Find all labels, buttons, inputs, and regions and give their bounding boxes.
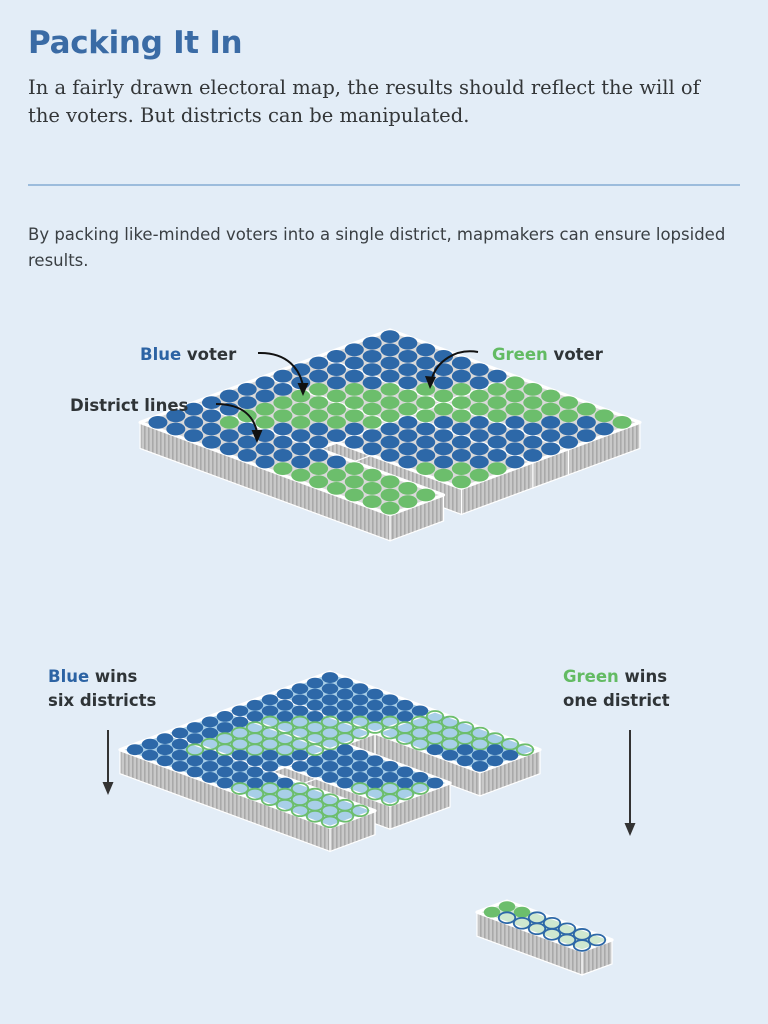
blue-voter-dot xyxy=(523,436,542,449)
green-voter-dot xyxy=(345,409,364,422)
blue-voter-dot xyxy=(397,767,413,778)
blue-voter-dot xyxy=(238,396,257,409)
blue-voter-dot xyxy=(397,778,413,789)
green-wins-label: Green wins xyxy=(563,667,667,686)
blue-voter-dot xyxy=(488,370,507,383)
blue-voter-dot xyxy=(577,429,596,442)
blue-voter-dot xyxy=(352,750,368,761)
green-voter-dot xyxy=(273,409,292,422)
green-voter-dot xyxy=(416,462,435,475)
green-voter-dot xyxy=(613,416,632,429)
green-voter-dot xyxy=(484,907,500,918)
blue-voter-dot xyxy=(541,429,560,442)
blue-voter-dot xyxy=(434,456,453,469)
green-voter-dot xyxy=(398,390,417,403)
green-voter-dot xyxy=(523,383,542,396)
blue-voter-dot xyxy=(238,449,257,462)
blue-voter-dot xyxy=(487,755,503,766)
blue-voter-dot xyxy=(238,436,257,449)
blue-voter-dot xyxy=(217,755,233,766)
green-voter-dot xyxy=(327,390,346,403)
green-voter-label: Green voter xyxy=(492,345,604,364)
green-voter-dot xyxy=(434,390,453,403)
blue-voter-dot xyxy=(363,350,382,363)
blue-voter-dot xyxy=(277,755,293,766)
packed-green-district[interactable] xyxy=(477,901,612,975)
blue-voter-dot xyxy=(172,750,188,761)
blue-voter-dot xyxy=(291,429,310,442)
green-voter-dot xyxy=(345,475,364,488)
blue-voter-dot xyxy=(322,694,338,705)
blue-voter-dot xyxy=(187,767,203,778)
blue-voter-dot xyxy=(187,755,203,766)
blue-voter-dot xyxy=(307,755,323,766)
blue-voter-dot xyxy=(452,357,471,370)
green-voter-dot xyxy=(416,383,435,396)
green-voter-dot xyxy=(514,907,530,918)
green-voter-dot xyxy=(220,416,239,429)
blue-voter-dot xyxy=(452,436,471,449)
blue-voter-dot xyxy=(220,442,239,455)
blue-voter-dot xyxy=(273,383,292,396)
blue-voter-dot xyxy=(327,376,346,389)
blue-voter-dot xyxy=(412,772,428,783)
blue-voter-dot xyxy=(172,761,188,772)
blue-voter-rest: voter xyxy=(181,345,237,364)
blue-voter-dot xyxy=(381,436,400,449)
blue-voter-dot xyxy=(127,744,143,755)
blue-voter-dot xyxy=(352,772,368,783)
blue-wins-label: Blue wins xyxy=(48,667,138,686)
green-wins-arrow-head xyxy=(625,823,636,836)
blue-voter-dot xyxy=(202,750,218,761)
green-voter-dot xyxy=(291,416,310,429)
blue-voter-dot xyxy=(363,442,382,455)
blue-voter-dot xyxy=(202,423,221,436)
blue-voter-dot xyxy=(470,416,489,429)
blue-voter-dot xyxy=(577,416,596,429)
green-voter-dot xyxy=(309,383,328,396)
green-voter-dot xyxy=(488,409,507,422)
blue-voter-dot xyxy=(472,750,488,761)
green-voter-dot xyxy=(398,495,417,508)
blue-voter-dot xyxy=(488,449,507,462)
blue-voter-dot xyxy=(220,429,239,442)
blue-voter-dot xyxy=(202,717,218,728)
blue-voter-dot xyxy=(434,416,453,429)
blue-voter-dot xyxy=(202,436,221,449)
blue-voter-dot xyxy=(217,711,233,722)
blue-voter-dot xyxy=(202,396,221,409)
blue-voter-dot xyxy=(322,750,338,761)
infographic-page: Packing It In In a fairly drawn electora… xyxy=(0,0,768,1024)
green-voter-dot xyxy=(595,409,614,422)
blue-voter-dot xyxy=(262,772,278,783)
blue-voter-dot xyxy=(309,357,328,370)
blue-voter-dot xyxy=(452,449,471,462)
blue-voter-dot xyxy=(307,678,323,689)
green-voter-dot xyxy=(291,403,310,416)
blue-voter-dot xyxy=(382,694,398,705)
blue-voter-dot xyxy=(381,343,400,356)
blue-voter-dot xyxy=(220,390,239,403)
green-voter-dot xyxy=(416,396,435,409)
blue-voter-dot xyxy=(262,694,278,705)
green-voter-dot xyxy=(559,396,578,409)
blue-voter-dot xyxy=(291,442,310,455)
green-voter-dot xyxy=(416,489,435,502)
blue-voter-dot xyxy=(232,750,248,761)
blue-voter-dot xyxy=(187,733,203,744)
blue-voter-dot xyxy=(327,429,346,442)
green-voter-dot xyxy=(505,376,524,389)
green-voter-dot xyxy=(523,396,542,409)
green-voter-dot xyxy=(309,396,328,409)
green-voter-dot xyxy=(291,390,310,403)
blue-voter-dot xyxy=(382,705,398,716)
blue-voter-dot xyxy=(166,423,185,436)
green-voter-dot xyxy=(470,403,489,416)
blue-voter-dot xyxy=(217,722,233,733)
green-voter-dot xyxy=(398,403,417,416)
blue-voter-dot xyxy=(322,683,338,694)
blue-voter-dot xyxy=(363,376,382,389)
blue-voter-dot xyxy=(327,456,346,469)
blue-voter-dot xyxy=(307,689,323,700)
blue-voter-dot xyxy=(327,363,346,376)
green-voter-dot xyxy=(381,475,400,488)
blue-voter-dot xyxy=(217,767,233,778)
blue-voter-dot xyxy=(172,739,188,750)
blue-voter-dot xyxy=(142,750,158,761)
green-voter-dot xyxy=(541,390,560,403)
green-voter-dot xyxy=(363,495,382,508)
green-wins-rest: wins xyxy=(619,667,667,686)
blue-voter-dot xyxy=(322,761,338,772)
green-voter-dot xyxy=(398,482,417,495)
blue-voter-dot xyxy=(309,449,328,462)
blue-voter-dot xyxy=(470,456,489,469)
blue-voter-dot xyxy=(382,772,398,783)
blue-voter-dot xyxy=(337,767,353,778)
blue-voter-dot xyxy=(202,761,218,772)
blue-voter-dot xyxy=(247,767,263,778)
blue-voter-dot xyxy=(541,416,560,429)
blue-voter-dot xyxy=(157,733,173,744)
blue-voter-dot xyxy=(398,337,417,350)
blue-voter-dot xyxy=(262,761,278,772)
green-voter-dot xyxy=(238,409,257,422)
blue-voter-dot xyxy=(397,711,413,722)
blue-voter-accent: Blue xyxy=(140,345,181,364)
blue-voter-dot xyxy=(345,423,364,436)
blue-voter-dot xyxy=(262,705,278,716)
blue-voter-dot xyxy=(273,423,292,436)
blue-voter-dot xyxy=(247,755,263,766)
green-voter-dot xyxy=(256,416,275,429)
green-voter-dot xyxy=(327,403,346,416)
blue-voter-dot xyxy=(157,744,173,755)
green-wins-accent: Green xyxy=(563,667,619,686)
blue-voter-dot xyxy=(345,357,364,370)
blue-wins-arrow-head xyxy=(103,782,114,795)
blue-voter-dot xyxy=(434,442,453,455)
blue-voter-dot xyxy=(277,700,293,711)
packed-map-isometric xyxy=(120,672,612,975)
green-wins-line2: one district xyxy=(563,691,670,710)
blue-voter-dot xyxy=(367,778,383,789)
green-voter-dot xyxy=(452,396,471,409)
blue-voter-dot xyxy=(337,678,353,689)
green-voter-dot xyxy=(273,462,292,475)
blue-voter-dot xyxy=(172,728,188,739)
blue-voter-dot xyxy=(322,672,338,683)
blue-voter-dot xyxy=(307,767,323,778)
blue-voter-dot xyxy=(247,700,263,711)
blue-voter-dot xyxy=(292,694,308,705)
blue-voter-dot xyxy=(398,416,417,429)
green-voter-dot xyxy=(452,409,471,422)
green-voter-dot xyxy=(309,462,328,475)
blue-voter-dot xyxy=(277,689,293,700)
blue-voter-dot xyxy=(273,370,292,383)
blue-voter-dot xyxy=(470,376,489,389)
blue-voter-dot xyxy=(457,744,473,755)
green-voter-dot xyxy=(488,383,507,396)
blue-voter-dot xyxy=(412,705,428,716)
blue-voter-dot xyxy=(337,689,353,700)
blue-voter-dot xyxy=(148,416,167,429)
blue-voter-dot xyxy=(273,449,292,462)
blue-voter-dot xyxy=(398,429,417,442)
blue-voter-dot xyxy=(352,761,368,772)
green-voter-dot xyxy=(345,489,364,502)
blue-voter-dot xyxy=(292,750,308,761)
blue-voter-dot xyxy=(273,436,292,449)
green-voter-dot xyxy=(488,396,507,409)
blue-voter-dot xyxy=(488,423,507,436)
blue-voter-dot xyxy=(541,442,560,455)
blue-voter-dot xyxy=(292,705,308,716)
blue-voter-dot xyxy=(367,700,383,711)
annotation-green-wins: Green wins one district xyxy=(563,667,670,836)
blue-voter-dot xyxy=(502,750,518,761)
blue-wins-rest: wins xyxy=(89,667,137,686)
blue-voter-dot xyxy=(488,436,507,449)
blue-voter-dot xyxy=(247,711,263,722)
green-voter-dot xyxy=(381,489,400,502)
blue-voter-dot xyxy=(345,436,364,449)
green-voter-dot xyxy=(381,383,400,396)
green-voter-dot xyxy=(452,462,471,475)
blue-voter-dot xyxy=(427,744,443,755)
green-voter-dot xyxy=(505,403,524,416)
blue-voter-dot xyxy=(307,711,323,722)
green-voter-dot xyxy=(309,475,328,488)
blue-voter-dot xyxy=(381,357,400,370)
green-voter-dot xyxy=(541,403,560,416)
blue-voter-dot xyxy=(256,376,275,389)
blue-voter-dot xyxy=(416,357,435,370)
blue-voter-dot xyxy=(398,376,417,389)
green-voter-dot xyxy=(434,469,453,482)
blue-voter-dot xyxy=(292,761,308,772)
green-voter-dot xyxy=(345,383,364,396)
blue-voter-dot xyxy=(470,442,489,455)
blue-voter-dot xyxy=(337,778,353,789)
blue-voter-dot xyxy=(416,449,435,462)
green-voter-dot xyxy=(363,469,382,482)
blue-voter-dot xyxy=(363,363,382,376)
blue-voter-dot xyxy=(352,694,368,705)
green-voter-dot xyxy=(345,396,364,409)
blue-voter-dot xyxy=(247,778,263,789)
blue-voter-dot xyxy=(232,772,248,783)
blue-voter-dot xyxy=(307,700,323,711)
blue-voter-dot xyxy=(309,436,328,449)
blue-voter-dot xyxy=(381,423,400,436)
green-voter-dot xyxy=(434,403,453,416)
blue-voter-dot xyxy=(337,744,353,755)
green-voter-dot xyxy=(273,396,292,409)
green-voter-dot xyxy=(363,482,382,495)
green-voter-dot xyxy=(452,475,471,488)
green-voter-dot xyxy=(488,462,507,475)
blue-voter-dot xyxy=(416,423,435,436)
blue-voter-dot xyxy=(505,456,524,469)
green-voter-dot xyxy=(327,416,346,429)
blue-voter-dot xyxy=(367,711,383,722)
blue-voter-dot xyxy=(277,711,293,722)
blue-voter-dot xyxy=(416,343,435,356)
blue-voter-dot xyxy=(345,343,364,356)
green-voter-dot xyxy=(381,409,400,422)
blue-voter-dot xyxy=(291,456,310,469)
green-voter-dot xyxy=(381,396,400,409)
blue-voter-dot xyxy=(470,363,489,376)
green-voter-dot xyxy=(363,390,382,403)
blue-voter-dot xyxy=(470,429,489,442)
blue-voter-dot xyxy=(262,750,278,761)
blue-voter-dot xyxy=(337,755,353,766)
blue-voter-dot xyxy=(367,767,383,778)
blue-voter-dot xyxy=(327,350,346,363)
blue-voter-dot xyxy=(505,429,524,442)
blue-voter-dot xyxy=(256,456,275,469)
green-voter-dot xyxy=(505,390,524,403)
green-voter-dot xyxy=(327,482,346,495)
blue-voter-dot xyxy=(337,700,353,711)
blue-voter-dot xyxy=(202,772,218,783)
isometric-diagram: Blue voter Green voter District lines Bl… xyxy=(0,0,768,1024)
green-voter-rest: voter xyxy=(548,345,604,364)
blue-voter-dot xyxy=(398,363,417,376)
blue-voter-dot xyxy=(434,429,453,442)
blue-voter-dot xyxy=(442,750,458,761)
district-lines-label: District lines xyxy=(70,396,189,415)
blue-voter-dot xyxy=(309,423,328,436)
blue-voter-dot xyxy=(398,350,417,363)
green-voter-dot xyxy=(345,462,364,475)
blue-voter-dot xyxy=(292,683,308,694)
blue-voter-dot xyxy=(157,755,173,766)
blue-voter-dot xyxy=(398,456,417,469)
green-voter-dot xyxy=(499,901,515,912)
blue-voter-dot xyxy=(367,689,383,700)
green-voter-dot xyxy=(523,409,542,422)
blue-voter-dot xyxy=(202,728,218,739)
blue-voter-dot xyxy=(187,722,203,733)
blue-voter-dot xyxy=(505,442,524,455)
blue-voter-dot xyxy=(322,772,338,783)
green-voter-dot xyxy=(327,469,346,482)
blue-voter-dot xyxy=(427,778,443,789)
blue-voter-dot xyxy=(487,744,503,755)
blue-voter-dot xyxy=(434,376,453,389)
blue-voter-label: Blue voter xyxy=(140,345,237,364)
blue-voter-dot xyxy=(291,363,310,376)
blue-voter-dot xyxy=(381,330,400,343)
green-voter-dot xyxy=(309,409,328,422)
blue-voter-dot xyxy=(363,337,382,350)
blue-voter-dot xyxy=(238,383,257,396)
blue-voter-dot xyxy=(416,436,435,449)
blue-voter-dot xyxy=(595,423,614,436)
blue-voter-dot xyxy=(398,442,417,455)
blue-voter-dot xyxy=(397,700,413,711)
blue-voter-dot xyxy=(472,761,488,772)
blue-voter-dot xyxy=(232,761,248,772)
blue-voter-dot xyxy=(277,778,293,789)
blue-voter-dot xyxy=(452,370,471,383)
blue-voter-dot xyxy=(232,717,248,728)
blue-voter-dot xyxy=(309,370,328,383)
blue-voter-dot xyxy=(337,711,353,722)
green-voter-dot xyxy=(363,403,382,416)
green-voter-dot xyxy=(577,403,596,416)
blue-voter-dot xyxy=(505,416,524,429)
blue-voter-dot xyxy=(184,416,203,429)
blue-wins-accent: Blue xyxy=(48,667,89,686)
green-voter-dot xyxy=(291,469,310,482)
blue-voter-dot xyxy=(142,739,158,750)
blue-voter-dot xyxy=(322,705,338,716)
green-voter-dot xyxy=(381,502,400,515)
blue-voter-dot xyxy=(217,778,233,789)
blue-voter-dot xyxy=(232,705,248,716)
blue-voter-dot xyxy=(382,761,398,772)
blue-voter-dot xyxy=(352,683,368,694)
green-voter-dot xyxy=(559,409,578,422)
blue-voter-dot xyxy=(559,423,578,436)
green-voter-dot xyxy=(452,383,471,396)
blue-voter-dot xyxy=(345,370,364,383)
green-voter-dot xyxy=(256,403,275,416)
blue-voter-dot xyxy=(381,449,400,462)
blue-voter-dot xyxy=(523,423,542,436)
blue-voter-dot xyxy=(452,423,471,436)
green-voter-dot xyxy=(416,409,435,422)
green-voter-dot xyxy=(470,469,489,482)
blue-wins-line2: six districts xyxy=(48,691,157,710)
blue-voter-dot xyxy=(202,409,221,422)
blue-voter-dot xyxy=(367,755,383,766)
green-voter-dot xyxy=(470,390,489,403)
blue-voter-dot xyxy=(523,449,542,462)
green-voter-dot xyxy=(363,416,382,429)
blue-voter-dot xyxy=(381,370,400,383)
blue-voter-dot xyxy=(363,429,382,442)
